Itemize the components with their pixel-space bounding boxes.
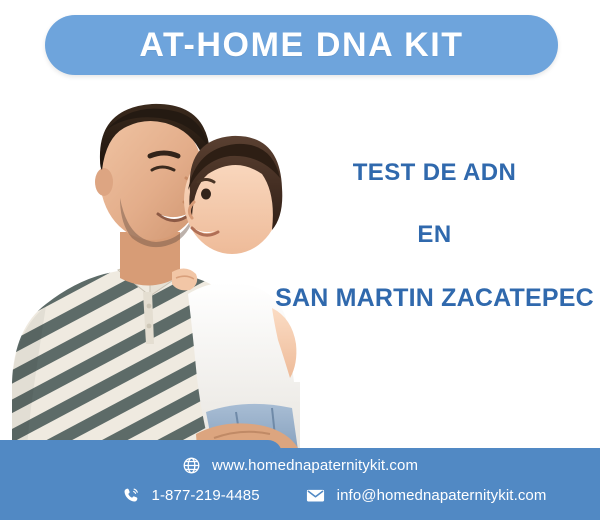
email-label: info@homednapaternitykit.com <box>337 487 547 504</box>
envelope-icon <box>305 485 326 506</box>
headline-line-3: SAN MARTIN ZACATEPEC <box>272 285 597 313</box>
headline-block: TEST DE ADN EN SAN MARTIN ZACATEPEC <box>272 160 597 312</box>
website-label: www.homednapaternitykit.com <box>212 457 418 474</box>
header-banner: AT-HOME DNA KIT <box>45 15 558 75</box>
phone-label: 1-877-219-4485 <box>152 487 260 504</box>
phone-icon <box>122 486 141 505</box>
footer-website[interactable]: www.homednapaternitykit.com <box>182 456 418 475</box>
header-title: AT-HOME DNA KIT <box>139 26 463 65</box>
family-photo-illustration <box>0 82 300 464</box>
globe-icon <box>182 456 201 475</box>
footer-shape-left <box>0 440 282 520</box>
footer-email[interactable]: info@homednapaternitykit.com <box>305 485 547 506</box>
headline-line-2: EN <box>272 222 597 248</box>
banner-canvas: AT-HOME DNA KIT <box>0 0 600 520</box>
headline-line-1: TEST DE ADN <box>272 160 597 186</box>
footer-phone[interactable]: 1-877-219-4485 <box>122 486 260 505</box>
footer-website-row: www.homednapaternitykit.com <box>0 456 600 475</box>
footer-bar: www.homednapaternitykit.com 1-877-219-44… <box>0 440 600 520</box>
family-photo <box>0 82 300 464</box>
footer-contact-row: 1-877-219-4485 info@homednapaternitykit.… <box>0 485 600 506</box>
